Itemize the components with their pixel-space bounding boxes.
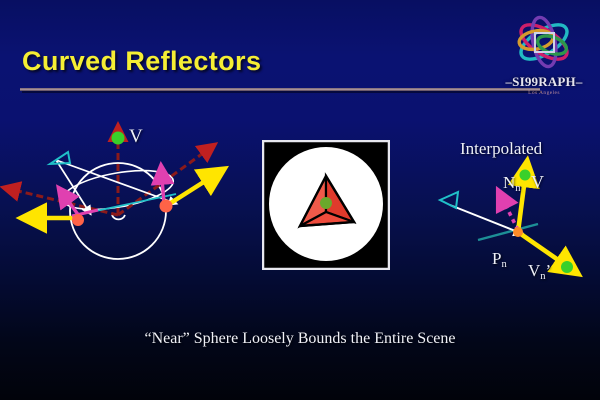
label-reflected-vn-prime: Vn’ [528, 261, 551, 282]
slide-caption: “Near” Sphere Loosely Bounds the Entire … [0, 330, 600, 348]
near-sphere-diagram [0, 118, 250, 288]
slide-canvas: Curved Reflectors –SI99RAPH– Los Angeles [0, 0, 600, 400]
label-viewpoint-left: V [129, 126, 143, 148]
interpolated-title: Interpolated [460, 139, 542, 159]
label-point-subscript: n [501, 259, 506, 270]
label-reflected-prime: ’ [546, 261, 552, 280]
label-reflected-base: V [528, 261, 540, 280]
logo-wordmark-text: SI99RAPH [512, 74, 576, 89]
label-normal-base: N [503, 173, 515, 192]
logo-dash-right: – [576, 74, 583, 89]
label-point-n: Pn [492, 249, 507, 270]
page-title: Curved Reflectors [22, 46, 261, 77]
label-normal-subscript: n [515, 183, 520, 194]
title-rule-shadow [22, 91, 542, 93]
logo-wordmark: –SI99RAPH– [496, 74, 592, 90]
siggraph-logo: –SI99RAPH– Los Angeles [496, 14, 592, 106]
label-viewpoint-right: V [531, 172, 544, 193]
label-normal-n: Nn [503, 173, 521, 194]
title-rule [20, 88, 540, 91]
logo-subtitle: Los Angeles [496, 90, 592, 96]
bounding-sphere-render [262, 140, 390, 270]
